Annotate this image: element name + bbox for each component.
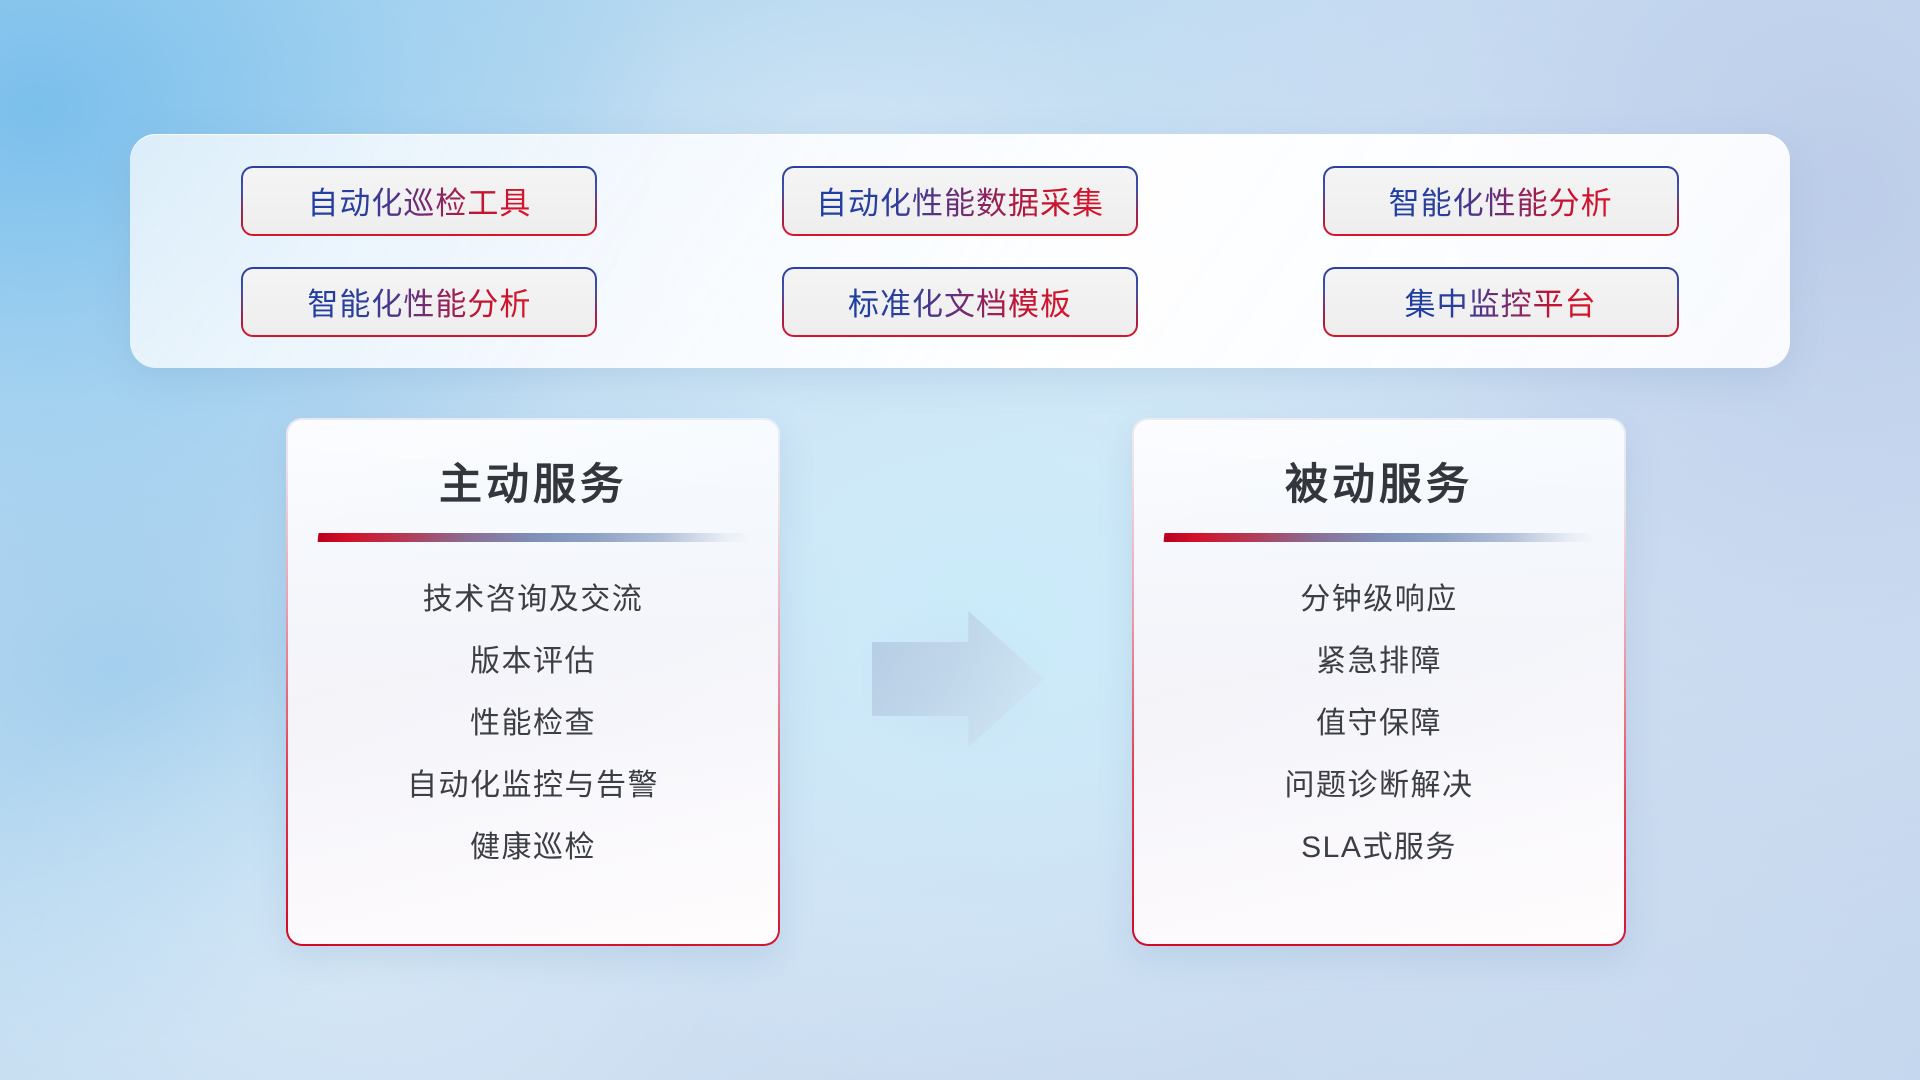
service-item: 性能检查 xyxy=(318,706,748,742)
service-item: 版本评估 xyxy=(318,644,748,680)
capability-pill-5[interactable]: 标准化文档模板 xyxy=(784,269,1136,335)
capability-pill-label: 智能化性能分析 xyxy=(1389,178,1613,223)
capability-pill-6[interactable]: 集中监控平台 xyxy=(1325,269,1677,335)
capability-panel: 自动化巡检工具 自动化性能数据采集 智能化性能分析 智能化性能分析 标准化文档模… xyxy=(130,134,1790,368)
service-item: 自动化监控与告警 xyxy=(318,768,748,804)
capability-pill-label: 自动化巡检工具 xyxy=(307,178,531,223)
service-item: 健康巡检 xyxy=(318,830,748,866)
capability-pill-label: 智能化性能分析 xyxy=(307,279,531,324)
service-item: 问题诊断解决 xyxy=(1164,768,1594,804)
capability-pill-2[interactable]: 自动化性能数据采集 xyxy=(784,168,1136,234)
capability-pill-label: 标准化文档模板 xyxy=(848,279,1072,324)
service-item: 分钟级响应 xyxy=(1164,582,1594,618)
card-title: 主动服务 xyxy=(318,462,748,509)
service-card-reactive[interactable]: 被动服务 分钟级响应 紧急排障 值守保障 问题诊断解决 SLA式服务 xyxy=(1132,418,1626,946)
slide-canvas: 自动化巡检工具 自动化性能数据采集 智能化性能分析 智能化性能分析 标准化文档模… xyxy=(0,0,1920,1080)
capability-pill-label: 集中监控平台 xyxy=(1405,279,1597,324)
service-card-proactive[interactable]: 主动服务 技术咨询及交流 版本评估 性能检查 自动化监控与告警 健康巡检 xyxy=(286,418,780,946)
card-divider xyxy=(318,533,751,542)
service-item: 值守保障 xyxy=(1164,706,1594,742)
service-item: SLA式服务 xyxy=(1164,830,1594,866)
card-title: 被动服务 xyxy=(1164,462,1594,509)
capability-pill-3[interactable]: 智能化性能分析 xyxy=(1325,168,1677,234)
service-item-list: 分钟级响应 紧急排障 值守保障 问题诊断解决 SLA式服务 xyxy=(1164,582,1594,866)
capability-pill-1[interactable]: 自动化巡检工具 xyxy=(243,168,595,234)
service-item: 紧急排障 xyxy=(1164,644,1594,680)
service-item: 技术咨询及交流 xyxy=(318,582,748,618)
capability-pill-4[interactable]: 智能化性能分析 xyxy=(243,269,595,335)
service-item-list: 技术咨询及交流 版本评估 性能检查 自动化监控与告警 健康巡检 xyxy=(318,582,748,866)
card-divider xyxy=(1164,533,1597,542)
capability-pill-label: 自动化性能数据采集 xyxy=(816,178,1104,223)
